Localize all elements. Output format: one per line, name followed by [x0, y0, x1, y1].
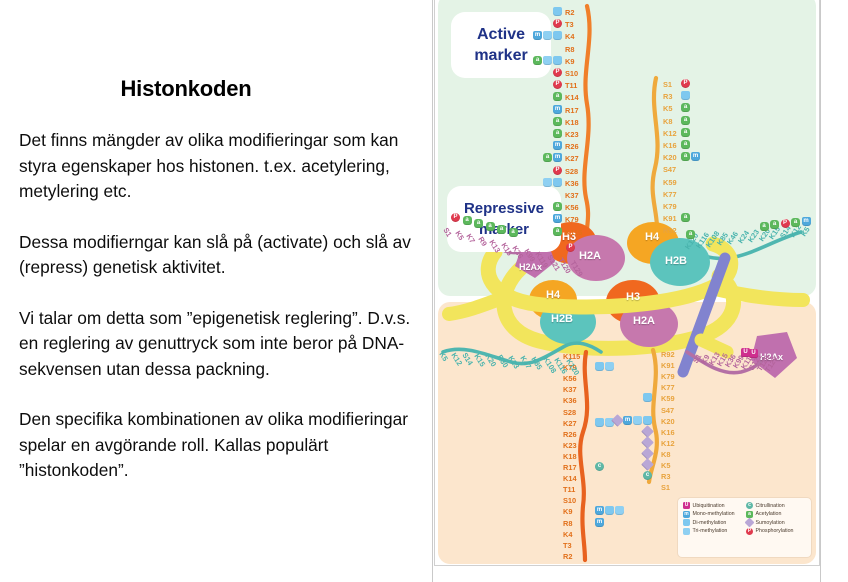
ubiquitination-icon: U [683, 502, 690, 509]
ptm-badge-me1: m [595, 506, 604, 515]
paragraph-3: Vi talar om detta som ”epigenetisk regle… [19, 306, 431, 383]
residue-label: R8 [565, 45, 574, 54]
residue-label: T11 [563, 485, 575, 494]
active-marker-line1: Active [477, 24, 525, 45]
ptm-badge-ub: U [749, 349, 758, 358]
legend-item-ubiquitination: UUbiquitination [683, 502, 743, 509]
column-divider-left [432, 0, 433, 582]
ptm-badge-ac: a [681, 128, 690, 137]
ptm-badge-ac: a [770, 220, 779, 229]
ptm-badge-me2 [605, 506, 614, 515]
ptm-badge-me1: m [533, 31, 542, 40]
residue-label: R2 [565, 8, 574, 17]
residue-label: K9 [565, 57, 574, 66]
body-copy: Det finns mängder av olika modifieringar… [19, 128, 431, 484]
legend-label: Tri-methylation [693, 528, 728, 534]
residue-label: R92 [661, 350, 675, 359]
residue-label: K79 [565, 215, 579, 224]
residue-label: K79 [663, 202, 677, 211]
residue-label: K8 [661, 450, 670, 459]
ptm-badge-ac: a [497, 225, 506, 234]
legend-label: Di-methylation [693, 520, 727, 526]
h3-tail-repressive [580, 352, 587, 560]
legend-label: Citrullination [756, 503, 785, 509]
residue-label: K77 [663, 190, 677, 199]
residue-label: K20 [663, 153, 677, 162]
ptm-badge-me2 [595, 418, 604, 427]
residue-label: K36 [563, 396, 577, 405]
repressive-marker-line1: Repressive [464, 198, 544, 219]
core-label-h4-lower: H4 [546, 289, 560, 301]
dna-linker-left [449, 300, 497, 314]
legend-label: Phosphorylation [756, 528, 794, 534]
residue-label: R3 [663, 92, 672, 101]
residue-label: K23 [565, 130, 579, 139]
residue-label: R17 [565, 106, 579, 115]
residue-label: K37 [563, 385, 577, 394]
ptm-badge-me2 [553, 7, 562, 16]
residue-label: K18 [565, 118, 579, 127]
h4-tail-active [653, 78, 658, 226]
residue-label: K27 [565, 154, 579, 163]
residue-label: T3 [565, 20, 574, 29]
residue-label: K14 [565, 93, 579, 102]
legend-label: Mono-methylation [693, 511, 735, 517]
residue-label: R3 [661, 472, 670, 481]
ptm-badge-me1: m [623, 416, 632, 425]
ptm-badge-ac: a [681, 103, 690, 112]
ptm-badge-me3 [633, 416, 642, 425]
residue-label: K77 [661, 383, 675, 392]
residue-label: K8 [663, 117, 672, 126]
residue-label: K23 [563, 441, 577, 450]
ptm-badge-ac: a [474, 219, 483, 228]
core-label-h2a-lower: H2A [633, 315, 655, 327]
ptm-badge-me3 [543, 56, 552, 65]
ptm-badge-ac: a [681, 116, 690, 125]
ptm-badge-me3 [605, 362, 614, 371]
core-label-h2b-lower: H2B [551, 313, 573, 325]
core-label-h4-upper: H4 [645, 231, 659, 243]
ptm-badge-me1: m [553, 214, 562, 223]
ptm-badge-me2 [553, 56, 562, 65]
legend-item-tri-methylation: Tri-methylation [683, 528, 743, 535]
text-column: Histonkoden Det finns mängder av olika m… [0, 0, 433, 582]
residue-label: K16 [661, 428, 675, 437]
slide-canvas: Histonkoden Det finns mängder av olika m… [0, 0, 848, 582]
legend-item-mono-methylation: mMono-methylation [683, 511, 743, 518]
residue-label: K14 [563, 474, 577, 483]
sumoylation-icon [745, 518, 755, 528]
ptm-badge-ph: P [681, 79, 690, 88]
residue-label: S47 [661, 406, 674, 415]
ptm-badge-ph: P [451, 213, 460, 222]
page-title: Histonkoden [0, 76, 372, 102]
ptm-badge-me1: m [553, 105, 562, 114]
ptm-badge-ph: P [781, 219, 790, 228]
residue-label: K9 [563, 507, 572, 516]
legend-item-di-methylation: Di-methylation [683, 519, 743, 526]
ptm-badge-me1: m [691, 152, 700, 161]
ptm-badge-ac: a [463, 216, 472, 225]
active-marker-box: Active marker [451, 12, 551, 78]
ptm-badge-me2 [553, 31, 562, 40]
ptm-badge-ac: a [533, 56, 542, 65]
residue-label: K5 [663, 104, 672, 113]
ptm-badge-ac: a [543, 153, 552, 162]
ptm-badge-me1: m [553, 141, 562, 150]
ptm-badge-ac: a [681, 213, 690, 222]
ptm-badge-ac: a [681, 152, 690, 161]
ptm-badge-ac: a [486, 222, 495, 231]
ptm-badge-ac: a [681, 140, 690, 149]
ptm-badge-me1: m [595, 518, 604, 527]
legend-item-citrullination: cCitrullination [746, 502, 806, 509]
paragraph-2: Dessa modifierngar kan slå på (activate)… [19, 230, 431, 281]
residue-label: S28 [563, 408, 576, 417]
ptm-badge-ac: a [553, 92, 562, 101]
residue-label: K4 [565, 32, 574, 41]
core-label-h2b-upper: H2B [665, 255, 687, 267]
residue-label: K59 [663, 178, 677, 187]
legend-label: Ubiquitination [693, 503, 725, 509]
residue-label: K91 [661, 361, 675, 370]
legend-item-phosphorylation: PPhosphorylation [746, 528, 806, 535]
residue-label: K79 [661, 372, 675, 381]
residue-label: K56 [565, 203, 579, 212]
histone-code-figure: H3 H4 H2A H2B H4 H3 H2B H2A H2Ax H2Ax Ac… [434, 0, 820, 566]
residue-label: K5 [661, 461, 670, 470]
residue-label: T3 [563, 541, 572, 550]
ptm-badge-ac: a [760, 222, 769, 231]
citrullination-icon: c [746, 502, 753, 509]
residue-label: K59 [661, 394, 675, 403]
ptm-badge-ci: c [595, 462, 604, 471]
phosphorylation-icon: P [746, 528, 753, 535]
core-label-h3-lower: H3 [626, 291, 640, 303]
legend-label: Sumoylation [756, 520, 785, 526]
paragraph-4: Den specifika kombinationen av olika mod… [19, 407, 431, 484]
ptm-badge-ph: P [553, 166, 562, 175]
legend-item-acetylation: aAcetylation [746, 511, 806, 518]
ptm-badge-me3 [543, 31, 552, 40]
mono-methylation-icon: m [683, 511, 690, 518]
ptm-badge-ac: a [791, 218, 800, 227]
residue-label: K115 [565, 228, 582, 237]
ptm-badge-ac: a [553, 202, 562, 211]
residue-label: K37 [565, 191, 579, 200]
legend-item-sumoylation: Sumoylation [746, 519, 806, 526]
residue-label: R2 [563, 552, 572, 561]
ptm-badge-me1: m [553, 153, 562, 162]
ptm-badge-ph: P [566, 243, 575, 252]
ptm-badge-ac: a [553, 117, 562, 126]
ptm-badge-me1: m [802, 217, 811, 226]
residue-label: S1 [661, 483, 670, 492]
ptm-badge-ac: a [553, 129, 562, 138]
paragraph-1: Det finns mängder av olika modifieringar… [19, 128, 431, 205]
legend-label: Acetylation [756, 511, 782, 517]
residue-label: S28 [565, 167, 578, 176]
h3-tail-active [584, 6, 589, 232]
ptm-badge-ac: a [553, 227, 562, 236]
residue-label: S1 [663, 80, 672, 89]
ptm-badge-me2 [643, 393, 652, 402]
ptm-badge-ph: P [553, 68, 562, 77]
core-label-h2a-upper: H2A [579, 250, 601, 262]
residue-label: S10 [563, 496, 576, 505]
ptm-badge-ac: a [686, 230, 695, 239]
residue-label: T11 [565, 81, 577, 90]
ptm-badge-me3 [543, 178, 552, 187]
residue-label: K27 [563, 419, 577, 428]
ptm-badge-me2 [595, 362, 604, 371]
column-divider-right [820, 0, 821, 582]
tri-methylation-icon [683, 528, 690, 535]
residue-label: K91 [663, 214, 677, 223]
residue-label: K12 [661, 439, 675, 448]
residue-label: S47 [663, 165, 676, 174]
residue-label: R17 [563, 463, 577, 472]
residue-label: K36 [565, 179, 579, 188]
ptm-badge-ac: a [509, 228, 518, 237]
ptm-badge-me3 [615, 506, 624, 515]
residue-label: R8 [563, 519, 572, 528]
residue-label: R92 [663, 226, 677, 235]
residue-label: K16 [663, 141, 677, 150]
residue-label: K20 [661, 417, 675, 426]
residue-label: R26 [565, 142, 579, 151]
di-methylation-icon [683, 519, 690, 526]
ptm-badge-me2 [643, 416, 652, 425]
residue-label: R26 [563, 430, 577, 439]
residue-label: S10 [565, 69, 578, 78]
ptm-legend: UUbiquitinationcCitrullinationmMono-meth… [677, 497, 812, 558]
ptm-badge-me2 [553, 178, 562, 187]
acetylation-icon: a [746, 511, 753, 518]
ptm-badge-me2 [681, 91, 690, 100]
active-marker-line2: marker [474, 45, 527, 66]
residue-label: K12 [663, 129, 677, 138]
residue-label: K18 [563, 452, 577, 461]
residue-label: K4 [563, 530, 572, 539]
